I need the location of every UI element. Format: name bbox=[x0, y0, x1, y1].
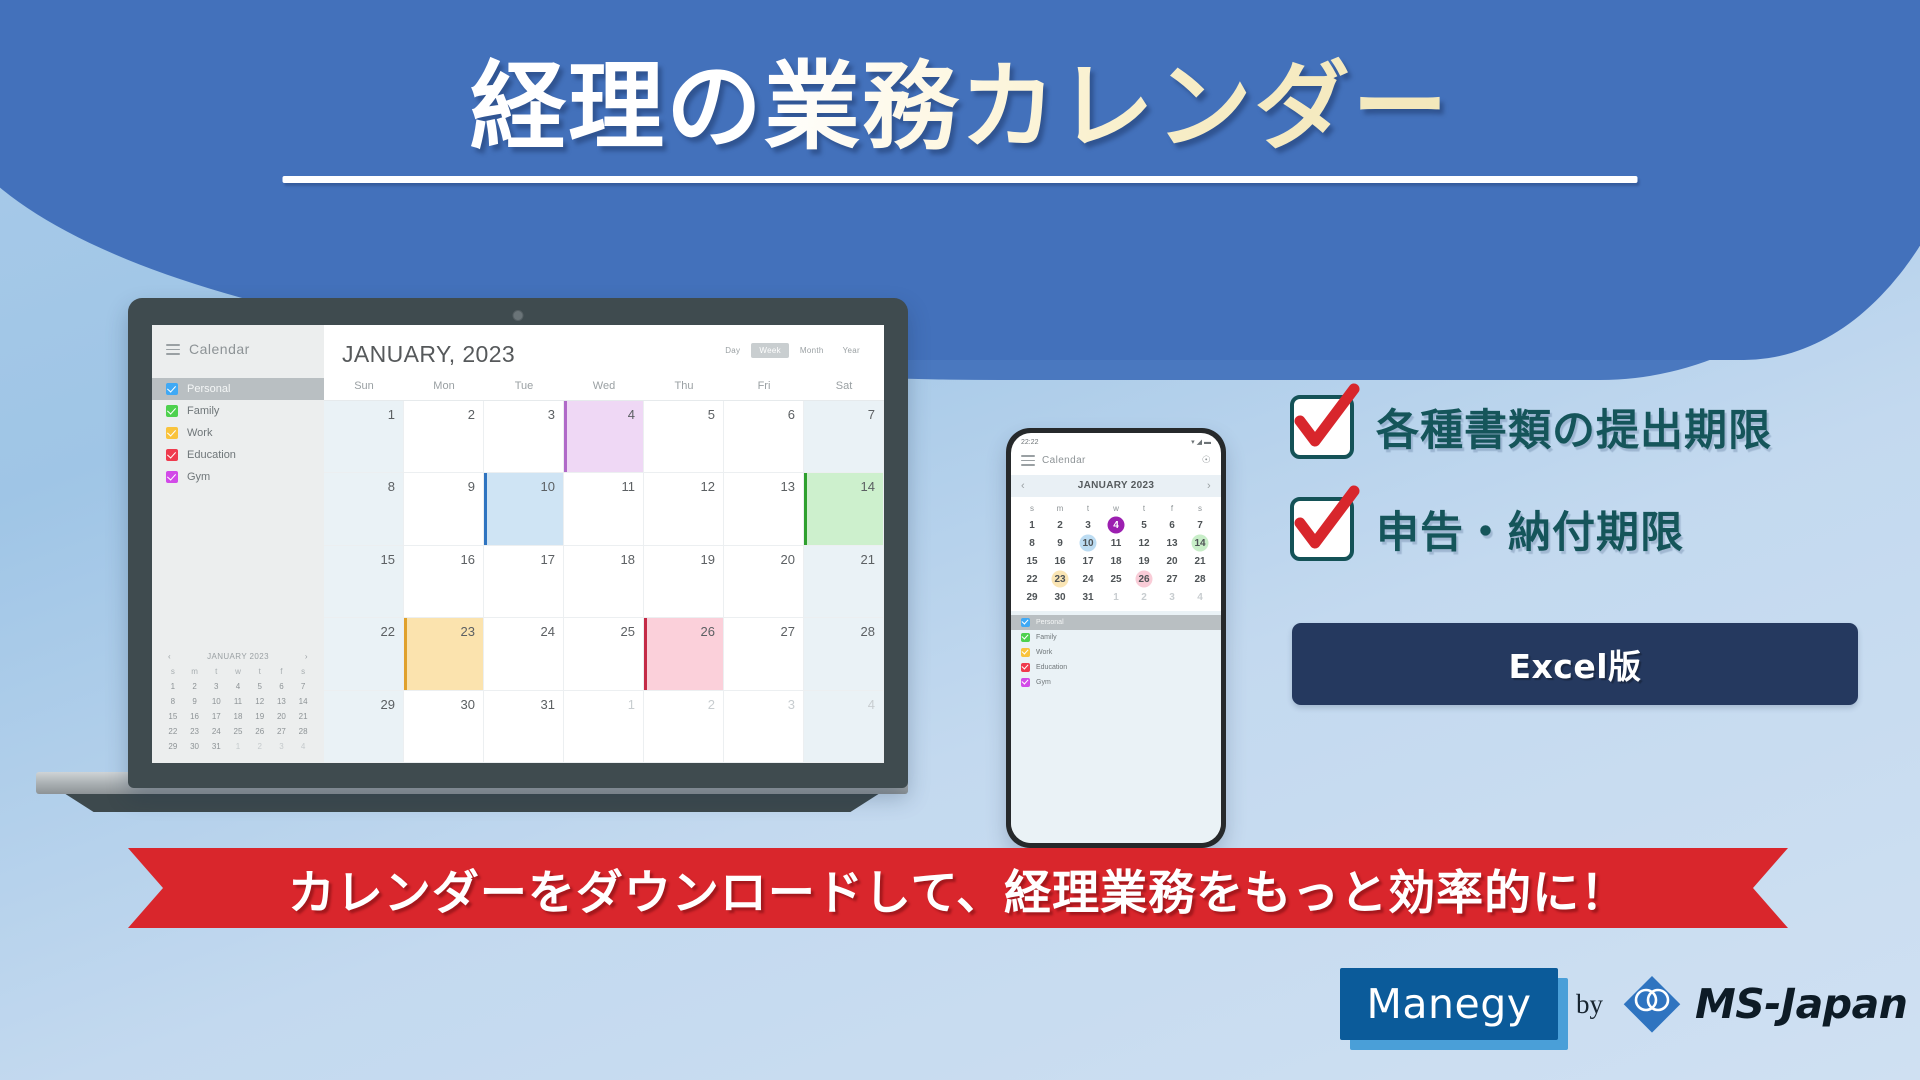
checkbox-icon[interactable] bbox=[1021, 663, 1030, 672]
manegy-logo[interactable]: Manegy bbox=[1340, 968, 1558, 1040]
phone-mockup: 22:22 ▾ ◢ ▬ Calendar ☉ ‹ JANUARY 2023 › bbox=[1006, 428, 1226, 848]
phone-day-number: 10 bbox=[1082, 538, 1093, 549]
mini-calendar-day[interactable]: 23 bbox=[184, 727, 206, 736]
calendar-day-cell[interactable]: 3 bbox=[724, 691, 804, 762]
calendar-day-number: 8 bbox=[388, 479, 395, 494]
phone-day-number: 30 bbox=[1054, 592, 1065, 603]
calendar-event-bar bbox=[484, 473, 487, 544]
feature-bullet-label: 各種書類の提出期限 bbox=[1376, 396, 1772, 458]
mini-calendar-day[interactable]: 6 bbox=[271, 682, 293, 691]
calendar-day-number: 2 bbox=[468, 407, 475, 422]
phone-day-cell[interactable]: 29 bbox=[1018, 592, 1046, 603]
checkbox-icon[interactable] bbox=[166, 405, 178, 417]
feature-bullet-list: 各種書類の提出期限申告・納付期限 bbox=[1290, 395, 1890, 599]
manegy-logo-text: Manegy bbox=[1367, 980, 1532, 1028]
calendar-day-number: 1 bbox=[388, 407, 395, 422]
phone-day-cell[interactable]: 9 bbox=[1046, 538, 1074, 549]
phone-weekday-label: s bbox=[1186, 504, 1214, 513]
calendar-day-cell[interactable]: 7 bbox=[804, 401, 884, 472]
legend-item[interactable]: Personal bbox=[1011, 615, 1221, 630]
phone-day-number: 5 bbox=[1141, 520, 1147, 531]
calendar-weekday-label: Sun bbox=[324, 374, 404, 400]
ms-japan-logo-text: MS-Japan bbox=[1695, 980, 1907, 1028]
mini-calendar-weekday: w bbox=[227, 667, 249, 676]
search-icon[interactable]: ☉ bbox=[1202, 455, 1211, 466]
phone-day-number: 3 bbox=[1169, 592, 1175, 603]
calendar-day-cell[interactable]: 31 bbox=[484, 691, 564, 762]
calendar-day-cell[interactable]: 25 bbox=[564, 618, 644, 689]
legend-item-label: Family bbox=[187, 405, 219, 417]
calendar-day-number: 18 bbox=[621, 552, 635, 567]
calendar-week-row: 891011121314 bbox=[324, 473, 884, 545]
phone-app-header: Calendar ☉ bbox=[1011, 448, 1221, 475]
calendar-day-cell[interactable]: 5 bbox=[644, 401, 724, 472]
phone-day-cell[interactable]: 2 bbox=[1130, 592, 1158, 603]
mini-calendar-day[interactable]: 27 bbox=[271, 727, 293, 736]
phone-day-cell[interactable]: 3 bbox=[1074, 520, 1102, 531]
phone-weekday-label: t bbox=[1130, 504, 1158, 513]
mini-calendar-day[interactable]: 1 bbox=[162, 682, 184, 691]
phone-day-number: 2 bbox=[1057, 520, 1063, 531]
calendar-main: JANUARY, 2023 DayWeekMonthYear SunMonTue… bbox=[324, 325, 884, 763]
phone-app-title: Calendar bbox=[1042, 455, 1086, 466]
calendar-month-title: JANUARY, 2023 bbox=[342, 341, 515, 368]
phone-day-cell[interactable]: 8 bbox=[1018, 538, 1046, 549]
mini-calendar-day[interactable]: 10 bbox=[205, 697, 227, 706]
calendar-day-number: 23 bbox=[461, 624, 475, 639]
phone-weekday-label: t bbox=[1074, 504, 1102, 513]
calendar-weekday-label: Tue bbox=[484, 374, 564, 400]
calendar-day-cell[interactable]: 27 bbox=[724, 618, 804, 689]
calendar-day-number: 3 bbox=[788, 697, 795, 712]
phone-day-number: 11 bbox=[1111, 538, 1122, 549]
laptop-lid: Calendar PersonalFamilyWorkEducationGym … bbox=[128, 298, 908, 788]
mini-calendar-grid[interactable]: smtwtfs123456789101112131415161718192021… bbox=[162, 667, 314, 751]
legend-item-label: Personal bbox=[187, 383, 230, 395]
excel-download-button-label: Excel版 bbox=[1508, 640, 1641, 688]
legend-item[interactable]: Family bbox=[1011, 630, 1221, 645]
calendar-day-cell[interactable]: 17 bbox=[484, 546, 564, 617]
phone-day-cell[interactable]: 14 bbox=[1186, 538, 1214, 549]
calendar-day-number: 15 bbox=[381, 552, 395, 567]
phone-day-number: 31 bbox=[1082, 592, 1093, 603]
mini-calendar: ‹ JANUARY 2023 › smtwtfs1234567891011121… bbox=[162, 652, 314, 751]
legend-item-label: Personal bbox=[1036, 619, 1064, 626]
feature-bullet: 各種書類の提出期限 bbox=[1290, 395, 1890, 459]
calendar-day-number: 25 bbox=[621, 624, 635, 639]
calendar-event-bar bbox=[564, 401, 567, 472]
calendar-day-number: 14 bbox=[861, 479, 875, 494]
phone-day-cell[interactable]: 20 bbox=[1158, 556, 1186, 567]
calendar-weekday-label: Mon bbox=[404, 374, 484, 400]
feature-bullet: 申告・納付期限 bbox=[1290, 497, 1890, 561]
legend-item-label: Education bbox=[187, 449, 236, 461]
phone-day-cell[interactable]: 11 bbox=[1102, 538, 1130, 549]
calendar-day-cell[interactable]: 29 bbox=[324, 691, 404, 762]
mini-calendar-day[interactable]: 19 bbox=[249, 712, 271, 721]
mini-calendar-day[interactable]: 14 bbox=[292, 697, 314, 706]
phone-day-number: 20 bbox=[1166, 556, 1177, 567]
calendar-view-tabs[interactable]: DayWeekMonthYear bbox=[717, 343, 868, 358]
calendar-day-number: 10 bbox=[541, 479, 555, 494]
calendar-day-number: 11 bbox=[622, 479, 636, 494]
calendar-day-cell[interactable]: 10 bbox=[484, 473, 564, 544]
phone-status-bar: 22:22 ▾ ◢ ▬ bbox=[1011, 433, 1221, 448]
calendar-day-cell[interactable]: 24 bbox=[484, 618, 564, 689]
mini-calendar-day[interactable]: 4 bbox=[227, 682, 249, 691]
legend-item-label: Work bbox=[187, 427, 212, 439]
calendar-day-cell[interactable]: 14 bbox=[804, 473, 884, 544]
legend-item[interactable]: Work bbox=[152, 422, 324, 444]
phone-day-cell[interactable]: 27 bbox=[1158, 574, 1186, 585]
phone-day-cell[interactable]: 17 bbox=[1074, 556, 1102, 567]
calendar-day-number: 24 bbox=[541, 624, 555, 639]
laptop-mockup: Calendar PersonalFamilyWorkEducationGym … bbox=[36, 298, 908, 818]
calendar-day-cell[interactable]: 18 bbox=[564, 546, 644, 617]
calendar-day-cell[interactable]: 11 bbox=[564, 473, 644, 544]
phone-month-title: JANUARY 2023 bbox=[1078, 480, 1154, 491]
legend-item-label: Education bbox=[1036, 664, 1067, 671]
phone-legend-list: PersonalFamilyWorkEducationGym bbox=[1011, 611, 1221, 844]
mini-calendar-weekday: s bbox=[162, 667, 184, 676]
mini-calendar-day[interactable]: 15 bbox=[162, 712, 184, 721]
calendar-day-cell[interactable]: 12 bbox=[644, 473, 724, 544]
phone-day-number: 6 bbox=[1169, 520, 1175, 531]
calendar-day-number: 3 bbox=[548, 407, 555, 422]
battery-icon: ▬ bbox=[1204, 439, 1211, 446]
phone-day-number: 4 bbox=[1197, 592, 1203, 603]
checkbox-icon[interactable] bbox=[1021, 618, 1030, 627]
checkbox-icon[interactable] bbox=[1021, 633, 1030, 642]
calendar-day-number: 16 bbox=[461, 552, 475, 567]
calendar-week-row: 22232425262728 bbox=[324, 618, 884, 690]
calendar-day-number: 31 bbox=[541, 697, 555, 712]
mini-calendar-day[interactable]: 5 bbox=[249, 682, 271, 691]
mini-calendar-day[interactable]: 28 bbox=[292, 727, 314, 736]
phone-weekday-label: f bbox=[1158, 504, 1186, 513]
phone-day-cell[interactable]: 4 bbox=[1102, 520, 1130, 531]
mini-calendar-weekday: t bbox=[205, 667, 227, 676]
mini-calendar-day[interactable]: 31 bbox=[205, 742, 227, 751]
calendar-weekday-label: Thu bbox=[644, 374, 724, 400]
phone-weekday-label: m bbox=[1046, 504, 1074, 513]
legend-item[interactable]: Gym bbox=[1011, 675, 1221, 690]
phone-day-cell[interactable]: 22 bbox=[1018, 574, 1046, 585]
checkbox-icon[interactable] bbox=[1021, 648, 1030, 657]
calendar-event-bar bbox=[804, 473, 807, 544]
checkbox-icon[interactable] bbox=[166, 449, 178, 461]
signal-icon: ◢ bbox=[1197, 438, 1202, 446]
phone-day-number: 22 bbox=[1026, 574, 1037, 585]
phone-day-cell[interactable]: 7 bbox=[1186, 520, 1214, 531]
mini-calendar-day[interactable]: 13 bbox=[271, 697, 293, 706]
phone-day-number: 4 bbox=[1113, 520, 1119, 531]
mini-calendar-day[interactable]: 8 bbox=[162, 697, 184, 706]
feature-bullet-label: 申告・納付期限 bbox=[1376, 498, 1684, 560]
phone-day-cell[interactable]: 1 bbox=[1102, 592, 1130, 603]
mini-calendar-day[interactable]: 24 bbox=[205, 727, 227, 736]
calendar-day-number: 20 bbox=[781, 552, 795, 567]
calendar-day-cell[interactable]: 4 bbox=[564, 401, 644, 472]
legend-item-label: Work bbox=[1036, 649, 1052, 656]
phone-day-cell[interactable]: 26 bbox=[1130, 574, 1158, 585]
phone-day-number: 14 bbox=[1194, 538, 1205, 549]
phone-day-cell[interactable]: 25 bbox=[1102, 574, 1130, 585]
page-title: 経理の業務カレンダー bbox=[470, 55, 1450, 161]
calendar-day-number: 2 bbox=[708, 697, 715, 712]
phone-day-cell[interactable]: 21 bbox=[1186, 556, 1214, 567]
calendar-day-cell[interactable]: 20 bbox=[724, 546, 804, 617]
phone-day-number: 3 bbox=[1085, 520, 1091, 531]
phone-calendar-grid[interactable]: smtwtfs123456789101112131415161718192021… bbox=[1011, 497, 1221, 607]
phone-day-cell[interactable]: 19 bbox=[1130, 556, 1158, 567]
phone-day-number: 18 bbox=[1110, 556, 1121, 567]
calendar-week-row: 1234567 bbox=[324, 401, 884, 473]
phone-day-number: 13 bbox=[1166, 538, 1177, 549]
mini-calendar-day[interactable]: 20 bbox=[271, 712, 293, 721]
calendar-day-cell[interactable]: 2 bbox=[404, 401, 484, 472]
calendar-day-cell[interactable]: 13 bbox=[724, 473, 804, 544]
calendar-day-cell[interactable]: 21 bbox=[804, 546, 884, 617]
mini-calendar-weekday: s bbox=[292, 667, 314, 676]
checked-checkbox-icon bbox=[1290, 395, 1354, 459]
calendar-day-number: 12 bbox=[701, 479, 715, 494]
mini-calendar-day[interactable]: 25 bbox=[227, 727, 249, 736]
footer-by-label: by bbox=[1576, 989, 1603, 1020]
phone-day-number: 12 bbox=[1138, 538, 1149, 549]
calendar-view-tab[interactable]: Month bbox=[792, 343, 832, 358]
calendar-event-bar bbox=[644, 618, 647, 689]
phone-month-bar: ‹ JANUARY 2023 › bbox=[1011, 475, 1221, 497]
calendar-day-cell[interactable]: 2 bbox=[644, 691, 724, 762]
calendar-week-grid[interactable]: 1234567891011121314151617181920212223242… bbox=[324, 401, 884, 763]
calendar-day-cell[interactable]: 16 bbox=[404, 546, 484, 617]
phone-day-cell[interactable]: 15 bbox=[1018, 556, 1046, 567]
phone-day-number: 16 bbox=[1054, 556, 1065, 567]
calendar-day-number: 21 bbox=[861, 552, 875, 567]
mini-calendar-day[interactable]: 3 bbox=[271, 742, 293, 751]
calendar-day-cell[interactable]: 22 bbox=[324, 618, 404, 689]
calendar-day-number: 9 bbox=[468, 479, 475, 494]
calendar-day-cell[interactable]: 26 bbox=[644, 618, 724, 689]
calendar-day-cell[interactable]: 15 bbox=[324, 546, 404, 617]
calendar-day-cell[interactable]: 23 bbox=[404, 618, 484, 689]
phone-day-number: 15 bbox=[1026, 556, 1037, 567]
mini-calendar-day[interactable]: 21 bbox=[292, 712, 314, 721]
title-underline bbox=[283, 176, 1638, 183]
hamburger-menu-icon[interactable] bbox=[1021, 452, 1035, 469]
phone-day-number: 24 bbox=[1082, 574, 1093, 585]
phone-day-cell[interactable]: 10 bbox=[1074, 538, 1102, 549]
calendar-view-tab[interactable]: Week bbox=[751, 343, 789, 358]
phone-day-number: 21 bbox=[1194, 556, 1205, 567]
mini-calendar-day[interactable]: 9 bbox=[184, 697, 206, 706]
calendar-day-cell[interactable]: 3 bbox=[484, 401, 564, 472]
calendar-day-number: 7 bbox=[868, 407, 875, 422]
phone-day-cell[interactable]: 2 bbox=[1046, 520, 1074, 531]
phone-status-icons: ▾ ◢ ▬ bbox=[1191, 438, 1211, 446]
phone-day-number: 25 bbox=[1110, 574, 1121, 585]
mini-calendar-weekday: t bbox=[249, 667, 271, 676]
mini-calendar-day[interactable]: 2 bbox=[184, 682, 206, 691]
calendar-toolbar: JANUARY, 2023 DayWeekMonthYear bbox=[324, 325, 884, 374]
phone-day-cell[interactable]: 23 bbox=[1046, 574, 1074, 585]
legend-item[interactable]: Gym bbox=[152, 466, 324, 488]
legend-item[interactable]: Family bbox=[152, 400, 324, 422]
mini-calendar-day[interactable]: 30 bbox=[184, 742, 206, 751]
legend-item-label: Gym bbox=[187, 471, 210, 483]
phone-day-cell[interactable]: 4 bbox=[1186, 592, 1214, 603]
mini-calendar-weekday: m bbox=[184, 667, 206, 676]
chevron-left-icon[interactable]: ‹ bbox=[168, 652, 171, 661]
phone-day-cell[interactable]: 13 bbox=[1158, 538, 1186, 549]
cta-ribbon-text: カレンダーをダウンロードして、経理業務をもっと効率的に！ bbox=[288, 854, 1628, 923]
phone-day-number: 7 bbox=[1197, 520, 1203, 531]
mini-calendar-day[interactable]: 18 bbox=[227, 712, 249, 721]
laptop-screen: Calendar PersonalFamilyWorkEducationGym … bbox=[152, 325, 884, 763]
calendar-legend-list: PersonalFamilyWorkEducationGym bbox=[152, 378, 324, 488]
calendar-weekday-header: SunMonTueWedThuFriSat bbox=[324, 374, 884, 401]
calendar-day-number: 4 bbox=[628, 407, 635, 422]
phone-weekday-label: w bbox=[1102, 504, 1130, 513]
calendar-day-number: 17 bbox=[541, 552, 555, 567]
manegy-logo-box: Manegy bbox=[1340, 968, 1558, 1040]
footer-branding: Manegy by MS-Japan bbox=[1340, 968, 1907, 1040]
calendar-day-number: 27 bbox=[781, 624, 795, 639]
calendar-sidebar-header: Calendar bbox=[152, 325, 324, 374]
mini-calendar-day[interactable]: 22 bbox=[162, 727, 184, 736]
phone-day-number: 2 bbox=[1141, 592, 1147, 603]
mini-calendar-weekday: f bbox=[271, 667, 293, 676]
phone-day-number: 29 bbox=[1026, 592, 1037, 603]
poster-canvas: 経理の業務カレンダー Calendar PersonalFamilyWorkEd… bbox=[0, 0, 1920, 1080]
phone-day-cell[interactable]: 12 bbox=[1130, 538, 1158, 549]
laptop-camera-icon bbox=[513, 310, 524, 321]
phone-day-number: 27 bbox=[1166, 574, 1177, 585]
chevron-right-icon[interactable]: › bbox=[1207, 480, 1211, 492]
calendar-day-number: 19 bbox=[701, 552, 715, 567]
phone-day-cell[interactable]: 1 bbox=[1018, 520, 1046, 531]
calendar-day-cell[interactable]: 6 bbox=[724, 401, 804, 472]
phone-screen: 22:22 ▾ ◢ ▬ Calendar ☉ ‹ JANUARY 2023 › bbox=[1011, 433, 1221, 843]
mini-calendar-day[interactable]: 12 bbox=[249, 697, 271, 706]
calendar-day-cell[interactable]: 4 bbox=[804, 691, 884, 762]
checkbox-icon[interactable] bbox=[166, 471, 178, 483]
mini-calendar-title: JANUARY 2023 bbox=[207, 652, 269, 661]
calendar-view-tab[interactable]: Day bbox=[717, 343, 748, 358]
calendar-day-cell[interactable]: 9 bbox=[404, 473, 484, 544]
phone-day-number: 1 bbox=[1029, 520, 1035, 531]
checkbox-icon[interactable] bbox=[166, 383, 178, 395]
mini-calendar-day[interactable]: 7 bbox=[292, 682, 314, 691]
checkbox-icon[interactable] bbox=[1021, 678, 1030, 687]
phone-day-number: 1 bbox=[1113, 592, 1119, 603]
calendar-weekday-label: Fri bbox=[724, 374, 804, 400]
legend-item[interactable]: Personal bbox=[152, 378, 324, 400]
calendar-day-cell[interactable]: 19 bbox=[644, 546, 724, 617]
calendar-day-cell[interactable]: 1 bbox=[324, 401, 404, 472]
legend-item-label: Gym bbox=[1036, 679, 1051, 686]
hamburger-menu-icon[interactable] bbox=[166, 341, 180, 358]
calendar-view-tab[interactable]: Year bbox=[835, 343, 868, 358]
phone-day-cell[interactable]: 5 bbox=[1130, 520, 1158, 531]
calendar-day-number: 26 bbox=[701, 624, 715, 639]
phone-weekday-label: s bbox=[1018, 504, 1046, 513]
mini-calendar-day[interactable]: 17 bbox=[205, 712, 227, 721]
mini-calendar-day[interactable]: 16 bbox=[184, 712, 206, 721]
calendar-day-number: 5 bbox=[708, 407, 715, 422]
calendar-day-number: 30 bbox=[461, 697, 475, 712]
phone-day-number: 23 bbox=[1054, 574, 1065, 585]
legend-item-label: Family bbox=[1036, 634, 1057, 641]
phone-day-cell[interactable]: 28 bbox=[1186, 574, 1214, 585]
phone-day-cell[interactable]: 24 bbox=[1074, 574, 1102, 585]
legend-item[interactable]: Work bbox=[1011, 645, 1221, 660]
calendar-day-number: 13 bbox=[781, 479, 795, 494]
legend-item[interactable]: Education bbox=[1011, 660, 1221, 675]
mini-calendar-header: ‹ JANUARY 2023 › bbox=[162, 652, 314, 667]
calendar-day-number: 22 bbox=[381, 624, 395, 639]
chevron-left-icon[interactable]: ‹ bbox=[1021, 480, 1025, 492]
phone-day-number: 17 bbox=[1082, 556, 1093, 567]
calendar-day-number: 1 bbox=[628, 697, 635, 712]
phone-day-number: 26 bbox=[1138, 574, 1149, 585]
excel-download-button[interactable]: Excel版 bbox=[1292, 623, 1858, 705]
mini-calendar-day[interactable]: 4 bbox=[292, 742, 314, 751]
calendar-day-cell[interactable]: 30 bbox=[404, 691, 484, 762]
hero-title-wrap: 経理の業務カレンダー bbox=[0, 55, 1920, 161]
calendar-day-number: 29 bbox=[381, 697, 395, 712]
phone-day-number: 19 bbox=[1138, 556, 1149, 567]
phone-day-cell[interactable]: 6 bbox=[1158, 520, 1186, 531]
chevron-right-icon[interactable]: › bbox=[305, 652, 308, 661]
calendar-day-cell[interactable]: 1 bbox=[564, 691, 644, 762]
phone-day-number: 9 bbox=[1057, 538, 1063, 549]
calendar-week-row: 2930311234 bbox=[324, 691, 884, 763]
mini-calendar-day[interactable]: 1 bbox=[227, 742, 249, 751]
calendar-day-cell[interactable]: 28 bbox=[804, 618, 884, 689]
mini-calendar-day[interactable]: 26 bbox=[249, 727, 271, 736]
calendar-day-number: 28 bbox=[861, 624, 875, 639]
calendar-day-cell[interactable]: 8 bbox=[324, 473, 404, 544]
phone-day-cell[interactable]: 31 bbox=[1074, 592, 1102, 603]
calendar-sidebar-title: Calendar bbox=[189, 341, 250, 357]
mini-calendar-day[interactable]: 3 bbox=[205, 682, 227, 691]
calendar-weekday-label: Wed bbox=[564, 374, 644, 400]
calendar-weekday-label: Sat bbox=[804, 374, 884, 400]
calendar-day-number: 6 bbox=[788, 407, 795, 422]
phone-day-cell[interactable]: 3 bbox=[1158, 592, 1186, 603]
calendar-week-row: 15161718192021 bbox=[324, 546, 884, 618]
ms-japan-logo[interactable]: MS-Japan bbox=[1621, 973, 1907, 1035]
mini-calendar-day[interactable]: 29 bbox=[162, 742, 184, 751]
legend-item[interactable]: Education bbox=[152, 444, 324, 466]
mini-calendar-day[interactable]: 2 bbox=[249, 742, 271, 751]
checked-checkbox-icon bbox=[1290, 497, 1354, 561]
phone-day-cell[interactable]: 30 bbox=[1046, 592, 1074, 603]
wifi-icon: ▾ bbox=[1191, 438, 1195, 446]
cta-ribbon: カレンダーをダウンロードして、経理業務をもっと効率的に！ bbox=[128, 848, 1788, 928]
phone-status-time: 22:22 bbox=[1021, 439, 1039, 446]
ms-japan-diamond-logo bbox=[1621, 973, 1683, 1035]
phone-day-cell[interactable]: 18 bbox=[1102, 556, 1130, 567]
checkbox-icon[interactable] bbox=[166, 427, 178, 439]
calendar-day-number: 4 bbox=[868, 697, 875, 712]
phone-day-cell[interactable]: 16 bbox=[1046, 556, 1074, 567]
phone-day-number: 28 bbox=[1194, 574, 1205, 585]
calendar-event-bar bbox=[404, 618, 407, 689]
mini-calendar-day[interactable]: 11 bbox=[227, 697, 249, 706]
